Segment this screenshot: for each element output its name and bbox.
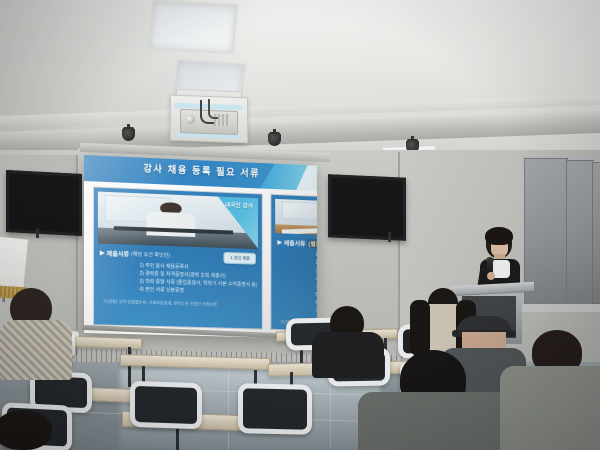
ceiling-panel-upper [147, 0, 238, 54]
chair[interactable] [238, 383, 312, 435]
slide-panel-right: 외국인 강사 ▶ 제출서류 (별도한 가능) 1) 주민·등사 채용등록조사 2… [271, 194, 317, 334]
slide-panels: 내국인 강사 ▶ 제출서류 (해당 요건 확인만) 1) 주민 등사 채용등록서… [93, 186, 308, 330]
photo-corner-label-left: 내국인 강사 [223, 202, 256, 212]
slide-left-heading-sub: (해당 요건 확인만) [131, 251, 170, 259]
chair[interactable] [130, 381, 202, 430]
slide-right-heading-text: 제출서류 [284, 239, 306, 249]
tv-left[interactable] [6, 170, 82, 236]
bullet-arrow-icon: ▶ [100, 250, 105, 257]
bullet-arrow-icon: ▶ [278, 239, 282, 246]
projector-lens-icon [186, 115, 195, 124]
tv-right[interactable] [328, 174, 406, 240]
projector-cable-secondary [208, 99, 218, 119]
slide-left-note: ※(공통) 국적 민원접수처, 사회보장관계, 본인소견 신청인 신청서류 [103, 299, 258, 309]
slide-right-heading-highlight: (별도한 가능) [307, 240, 317, 250]
tv-left-mount [36, 228, 39, 238]
floor-tile-line [228, 366, 229, 450]
slide: 강사 채용 등록 필요 서류 [84, 155, 317, 339]
slide-panel-left: 내국인 강사 ▶ 제출서류 (해당 요건 확인만) 1) 주민 등사 채용등록서… [93, 186, 263, 329]
window-blind-2[interactable] [566, 160, 594, 308]
slide-right-list: 1) 주민·등사 채용등록조사 2) 설명자료 제출용 확인 고용(외국인 전액… [278, 250, 317, 318]
list-item: 7) 본인 서류 신분증명 [315, 307, 316, 318]
slide-left-heading-text: 제출서류 [107, 249, 130, 259]
projection-screen: 강사 채용 등록 필요 서류 [84, 155, 317, 339]
slide-left-list: 1) 주민 등사 채용등록서 2) 경력증 및 자격증명서(경력 조회 제출서)… [100, 261, 258, 298]
lecture-hall-photo: 강사 채용 등록 필요 서류 [0, 0, 600, 450]
slide-photo-left: 내국인 강사 [98, 192, 258, 250]
slide-left-bubble: 1 영업 제출 [224, 252, 257, 265]
tv-right-mount [388, 232, 391, 242]
window-blind-3[interactable] [592, 162, 600, 304]
slide-photo-right: 외국인 강사 [276, 199, 317, 239]
